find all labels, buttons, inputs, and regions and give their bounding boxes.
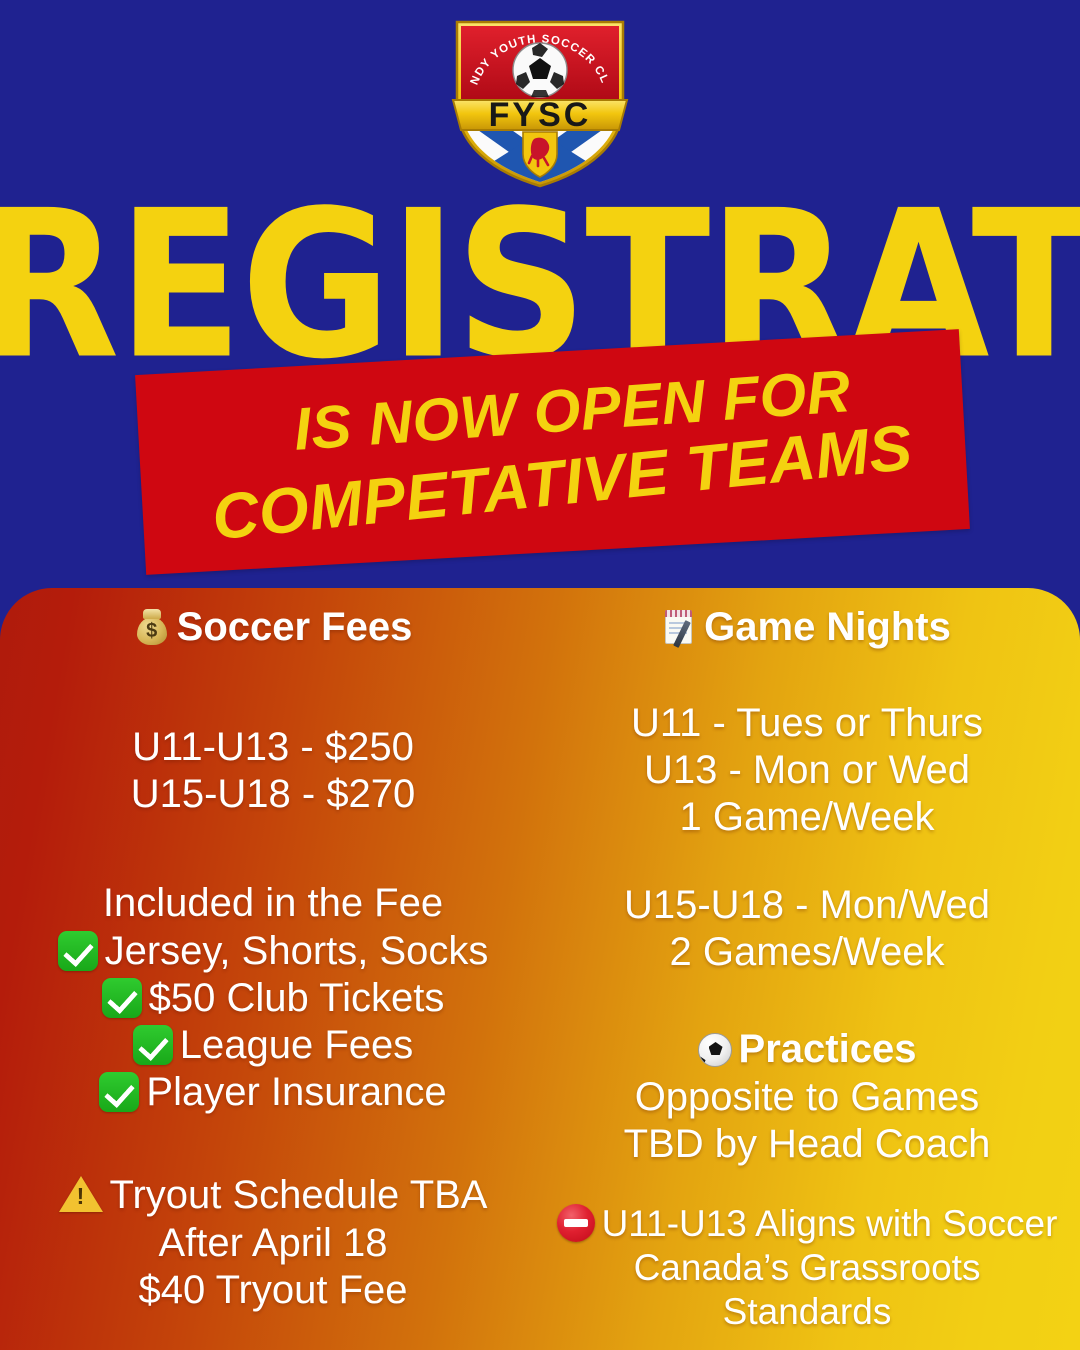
game-nights-heading: Game Nights <box>546 602 1068 652</box>
tryout-line: After April 18 <box>12 1220 534 1267</box>
check-icon <box>133 1025 173 1065</box>
included-heading: Included in the Fee <box>12 880 534 927</box>
game-night-line: U15-U18 - Mon/Wed <box>546 882 1068 929</box>
fees-list: U11-U13 - $250 U15-U18 - $270 <box>12 724 534 818</box>
soccer-ball-icon <box>698 1033 732 1067</box>
included-list: Included in the Fee Jersey, Shorts, Sock… <box>12 880 534 1116</box>
warning-icon <box>59 1174 103 1214</box>
no-entry-icon <box>557 1204 595 1242</box>
game-night-line: 1 Game/Week <box>546 794 1068 841</box>
included-item-label: $50 Club Tickets <box>149 976 445 1020</box>
game-nights-block-1: U11 - Tues or Thurs U13 - Mon or Wed 1 G… <box>546 700 1068 842</box>
soccer-fees-heading-label: Soccer Fees <box>177 605 413 649</box>
right-column: Game Nights U11 - Tues or Thurs U13 - Mo… <box>540 588 1080 1350</box>
standards-note-line: Canada’s Grassroots <box>546 1246 1068 1290</box>
game-night-line: U11 - Tues or Thurs <box>546 700 1068 747</box>
included-item-label: League Fees <box>180 1023 414 1067</box>
practice-line: TBD by Head Coach <box>546 1121 1068 1168</box>
standards-note: U11-U13 Aligns with Soccer Canada’s Gras… <box>546 1202 1068 1333</box>
included-item-label: Player Insurance <box>146 1070 446 1114</box>
practices-heading-label: Practices <box>739 1027 917 1071</box>
standards-note-line: U11-U13 Aligns with Soccer <box>546 1202 1068 1246</box>
included-item: Jersey, Shorts, Socks <box>12 928 534 975</box>
tryout-line: $40 Tryout Fee <box>12 1267 534 1314</box>
included-item: $50 Club Tickets <box>12 975 534 1022</box>
memo-icon <box>663 606 697 646</box>
info-panel: Soccer Fees U11-U13 - $250 U15-U18 - $27… <box>0 588 1080 1350</box>
registration-poster: FUNDY YOUTH SOCCER CLUB FYSC REGI <box>0 0 1080 1350</box>
fysc-crest-logo: FUNDY YOUTH SOCCER CLUB FYSC <box>447 8 633 190</box>
included-item: Player Insurance <box>12 1069 534 1116</box>
included-item-label: Jersey, Shorts, Socks <box>105 929 489 973</box>
check-icon <box>102 978 142 1018</box>
money-bag-icon <box>134 608 170 646</box>
game-nights-heading-label: Game Nights <box>704 605 951 649</box>
standards-note-label: U11-U13 Aligns with Soccer <box>602 1203 1058 1244</box>
tryout-line: Tryout Schedule TBA <box>12 1172 534 1219</box>
practices-block: Opposite to Games TBD by Head Coach <box>546 1074 1068 1168</box>
check-icon <box>99 1072 139 1112</box>
game-night-line: U13 - Mon or Wed <box>546 747 1068 794</box>
standards-note-line: Standards <box>546 1290 1068 1334</box>
check-icon <box>58 931 98 971</box>
game-nights-block-2: U15-U18 - Mon/Wed 2 Games/Week <box>546 882 1068 976</box>
practice-line: Opposite to Games <box>546 1074 1068 1121</box>
included-item: League Fees <box>12 1022 534 1069</box>
fee-item: U15-U18 - $270 <box>12 771 534 818</box>
tryout-line-label: Tryout Schedule TBA <box>110 1173 488 1217</box>
left-column: Soccer Fees U11-U13 - $250 U15-U18 - $27… <box>0 588 540 1350</box>
soccer-fees-heading: Soccer Fees <box>12 602 534 652</box>
practices-heading: Practices <box>546 1024 1068 1074</box>
fee-item: U11-U13 - $250 <box>12 724 534 771</box>
game-night-line: 2 Games/Week <box>546 929 1068 976</box>
tryout-block: Tryout Schedule TBA After April 18 $40 T… <box>12 1172 534 1314</box>
crest-initials: FYSC <box>489 96 592 134</box>
